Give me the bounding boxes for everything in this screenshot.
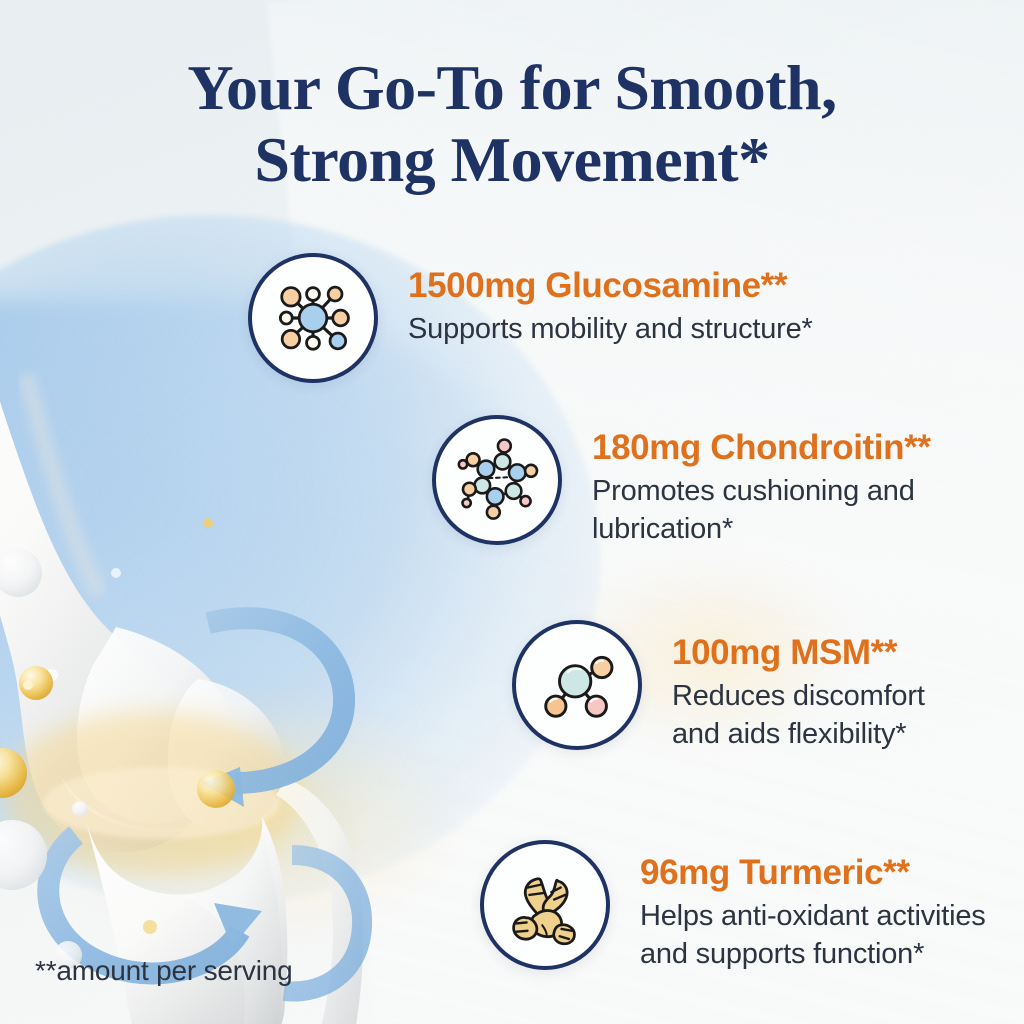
headline-line-1: Your Go-To for Smooth, — [187, 52, 836, 123]
msm-title: 100mg MSM** — [672, 632, 925, 673]
infographic-poster: Your Go-To for Smooth, Strong Movement* — [0, 0, 1024, 1024]
turmeric-description-line-1: Helps anti-oxidant activities — [640, 900, 986, 932]
msm-description-line-2: and aids flexibility* — [672, 718, 906, 750]
turmeric-description: Helps anti-oxidant activities and suppor… — [640, 898, 986, 973]
msm-description: Reduces discomfort and aids flexibility* — [672, 678, 925, 753]
glucosamine-badge — [248, 253, 378, 383]
turmeric-description-line-2: and supports function* — [640, 938, 924, 970]
glucosamine-molecule-icon — [267, 272, 359, 364]
feature-row-msm: 100mg MSM** Reduces discomfort and aids … — [512, 620, 925, 754]
headline-line-2: Strong Movement* — [0, 124, 1024, 196]
glucosamine-text-block: 1500mg Glucosamine** Supports mobility a… — [408, 253, 813, 349]
msm-text-block: 100mg MSM** Reduces discomfort and aids … — [672, 620, 925, 754]
glucosamine-title: 1500mg Glucosamine** — [408, 265, 813, 306]
feature-row-turmeric: 96mg Turmeric** Helps anti-oxidant activ… — [480, 840, 986, 974]
turmeric-title: 96mg Turmeric** — [640, 852, 986, 893]
chondroitin-description: Promotes cushioning and lubrication* — [592, 473, 931, 548]
turmeric-root-icon — [499, 859, 591, 951]
chondroitin-text-block: 180mg Chondroitin** Promotes cushioning … — [592, 415, 931, 549]
msm-badge — [512, 620, 642, 750]
chondroitin-molecule-icon — [451, 434, 543, 526]
page-title: Your Go-To for Smooth, Strong Movement* — [0, 52, 1024, 195]
chondroitin-badge — [432, 415, 562, 545]
msm-molecule-icon — [531, 639, 623, 731]
serving-footnote: **amount per serving — [35, 955, 292, 987]
turmeric-text-block: 96mg Turmeric** Helps anti-oxidant activ… — [640, 840, 986, 974]
chondroitin-description-line-2: lubrication* — [592, 513, 733, 545]
chondroitin-description-line-1: Promotes cushioning and — [592, 475, 915, 507]
turmeric-badge — [480, 840, 610, 970]
glucosamine-description: Supports mobility and structure* — [408, 311, 813, 349]
feature-row-chondroitin: 180mg Chondroitin** Promotes cushioning … — [432, 415, 931, 549]
feature-row-glucosamine: 1500mg Glucosamine** Supports mobility a… — [248, 253, 813, 383]
msm-description-line-1: Reduces discomfort — [672, 680, 925, 712]
chondroitin-title: 180mg Chondroitin** — [592, 427, 931, 468]
